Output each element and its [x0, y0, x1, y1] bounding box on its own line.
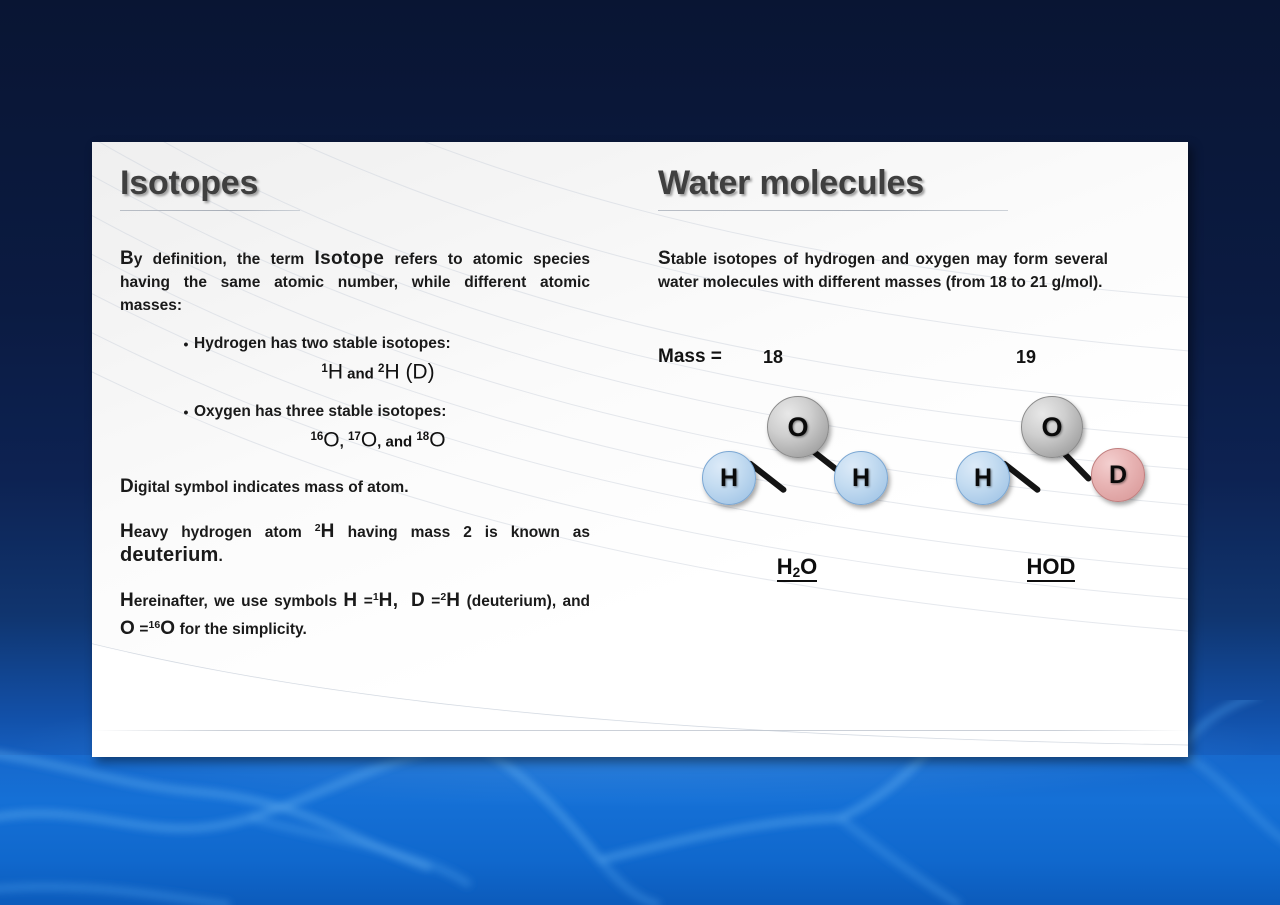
- presentation-slide[interactable]: Isotopes By definition, the term Isotope…: [92, 142, 1188, 757]
- paragraph-text: table isotopes of hydrogen and oxygen ma…: [658, 251, 1108, 291]
- element-h-2: H: [446, 591, 460, 612]
- atom-oxygen: O: [767, 396, 829, 458]
- atom-hydrogen-left: H: [956, 451, 1010, 505]
- element-o: O: [160, 618, 175, 639]
- slide-footer-rule: [92, 730, 1188, 731]
- right-column: Water molecules Stable isotopes of hydro…: [658, 164, 1158, 596]
- atom-hydrogen-left: H: [702, 451, 756, 505]
- symbol-o: O: [120, 618, 135, 639]
- formula-separator-2: , and: [377, 433, 416, 450]
- paragraph-lead-cap: B: [120, 248, 134, 269]
- paragraph-text-part-2: (deuterium), and: [460, 594, 590, 611]
- equals-h: =: [364, 594, 373, 611]
- molecule-h2o: O H H H2O: [682, 386, 912, 596]
- mass-label: Mass =: [658, 346, 722, 368]
- bullet-icon: •: [178, 333, 194, 355]
- paragraph-text-part-1: eavy hydrogen atom: [134, 524, 315, 541]
- atom-label: H: [852, 464, 870, 493]
- element-h-1: H,: [379, 591, 399, 612]
- bullet-icon: •: [178, 401, 194, 423]
- page-title-isotopes: Isotopes: [120, 164, 650, 203]
- superscript-mass-16: 16: [310, 431, 323, 443]
- atom-label: O: [787, 412, 808, 443]
- mass-value-h2o: 18: [763, 347, 783, 368]
- left-column: Isotopes By definition, the term Isotope…: [120, 164, 650, 641]
- list-item-label: Oxygen has three stable isotopes:: [194, 401, 446, 423]
- list-item-label: Hydrogen has two stable isotopes:: [194, 333, 451, 355]
- superscript-mass-16: 16: [148, 619, 160, 631]
- paragraph-heavy-hydrogen: Heavy hydrogen atom 2H having mass 2 is …: [120, 517, 590, 568]
- desktop-background-water: [0, 755, 1280, 905]
- paragraph-stable-isotopes: Stable isotopes of hydrogen and oxygen m…: [658, 247, 1108, 294]
- list-item-oxygen-isotopes: • Oxygen has three stable isotopes:: [178, 401, 578, 423]
- atom-label: H: [974, 464, 992, 493]
- paragraph-text-part-3: for the simplicity.: [175, 621, 307, 638]
- molecule-label-subscript: 2: [793, 565, 801, 580]
- atom-deuterium-right: D: [1091, 448, 1145, 502]
- element-o-16: O: [323, 428, 339, 451]
- molecule-diagram-area: O H H H2O O: [658, 386, 1158, 596]
- symbol-d: D: [411, 591, 425, 612]
- molecule-label-main: H: [777, 554, 793, 579]
- paragraph-lead-cap: H: [120, 591, 134, 612]
- isotope-definition-paragraph: By definition, the term Isotope refers t…: [120, 247, 590, 317]
- paragraph-digital-symbol: Digital symbol indicates mass of atom.: [120, 475, 590, 499]
- paragraph-lead-cap: S: [658, 248, 671, 269]
- formula-hydrogen-isotopes: 1H and 2H (D): [178, 356, 578, 388]
- atom-hydrogen-right: H: [834, 451, 888, 505]
- element-o-18: O: [429, 428, 445, 451]
- atom-label: D: [1109, 461, 1127, 490]
- atom-label: H: [720, 464, 738, 493]
- list-item-hydrogen-isotopes: • Hydrogen has two stable isotopes:: [178, 333, 578, 355]
- title-rule-right: [658, 210, 1008, 211]
- paragraph-text-part-1: ereinafter, we use symbols: [134, 594, 344, 611]
- page-title-water-molecules: Water molecules: [658, 164, 1158, 203]
- superscript-mass-17: 17: [348, 431, 361, 443]
- molecule-label-h2o: H2O: [682, 554, 912, 580]
- mass-row: Mass = 18 19: [658, 346, 1158, 376]
- element-h: H: [321, 521, 335, 542]
- mass-value-hod: 19: [1016, 347, 1036, 368]
- paragraph-lead-cap: H: [120, 521, 134, 542]
- molecule-label-hod: HOD: [936, 554, 1166, 580]
- slide-stage: Isotopes By definition, the term Isotope…: [0, 0, 1280, 905]
- paragraph-text-part-2: having mass 2 is known as: [335, 524, 590, 541]
- paragraph-text-part-1: y definition, the term: [134, 251, 315, 268]
- paragraph-lead-cap: D: [120, 476, 134, 497]
- title-rule-left: [120, 210, 300, 211]
- element-h-2: H (D): [384, 361, 434, 384]
- molecule-label-main: HOD: [1027, 554, 1076, 579]
- atom-oxygen: O: [1021, 396, 1083, 458]
- paragraph-hereinafter: Hereinafter, we use symbols H =1H, D =2H…: [120, 586, 590, 640]
- formula-conjunction: and: [343, 366, 378, 383]
- formula-separator-1: ,: [340, 433, 348, 450]
- molecule-hod: O H D HOD: [936, 386, 1166, 596]
- element-h-1: H: [328, 361, 343, 384]
- emphasis-deuterium: deuterium: [120, 544, 218, 566]
- formula-oxygen-isotopes: 16O, 17O, and 18O: [178, 424, 578, 456]
- superscript-mass-18: 18: [416, 431, 429, 443]
- symbol-h: H: [343, 591, 357, 612]
- element-o-17: O: [361, 428, 377, 451]
- paragraph-text: igital symbol indicates mass of atom.: [134, 479, 409, 496]
- paragraph-text-part-3: .: [218, 548, 222, 565]
- equals-d: =: [431, 594, 440, 611]
- emphasis-isotope: Isotope: [315, 248, 385, 269]
- molecule-label-tail: O: [800, 554, 817, 579]
- atom-label: O: [1041, 412, 1062, 443]
